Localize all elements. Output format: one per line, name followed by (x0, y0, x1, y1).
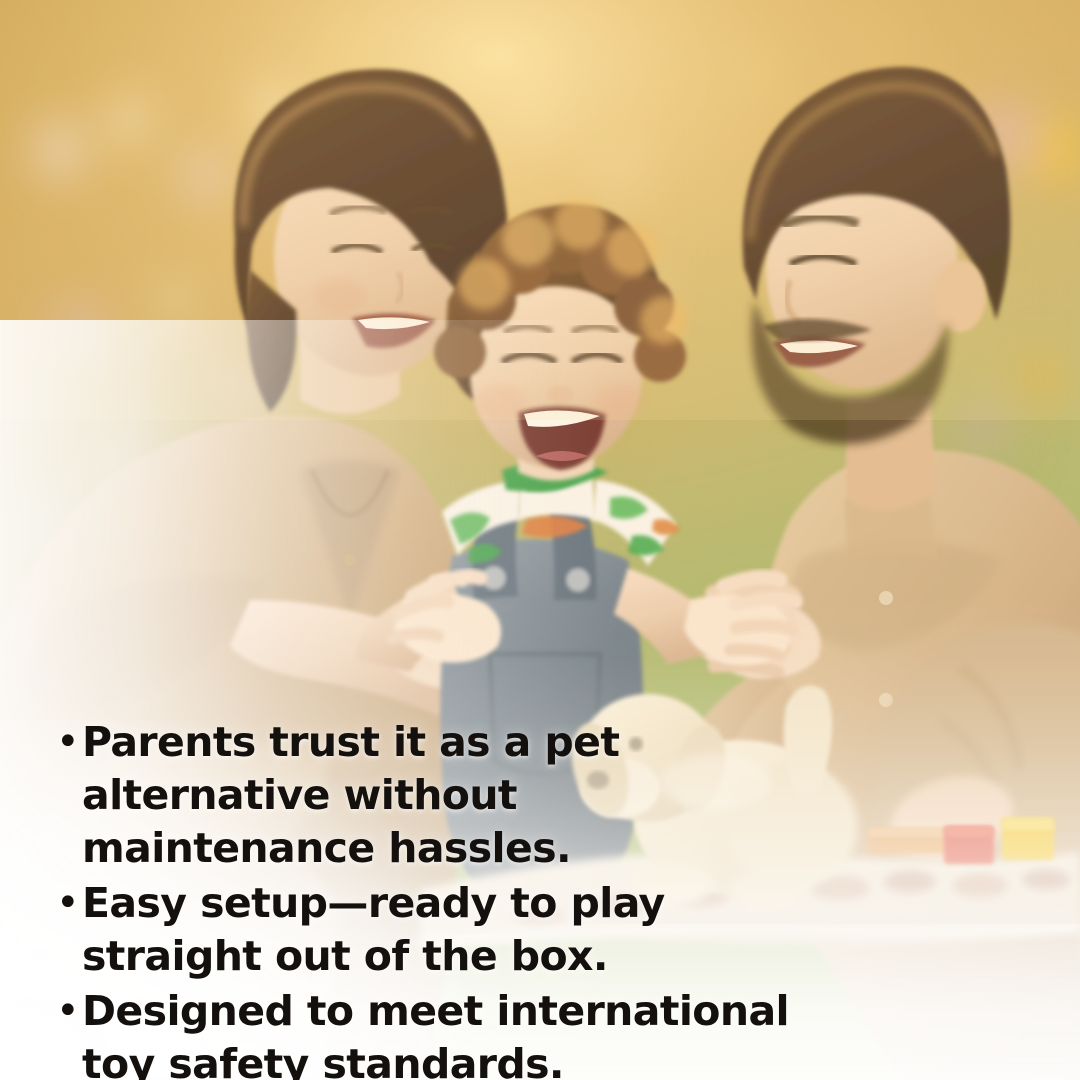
product-feature-image: • Parents trust it as a pet alternative … (0, 0, 1080, 1080)
family-meadow-photo (0, 0, 1080, 1080)
